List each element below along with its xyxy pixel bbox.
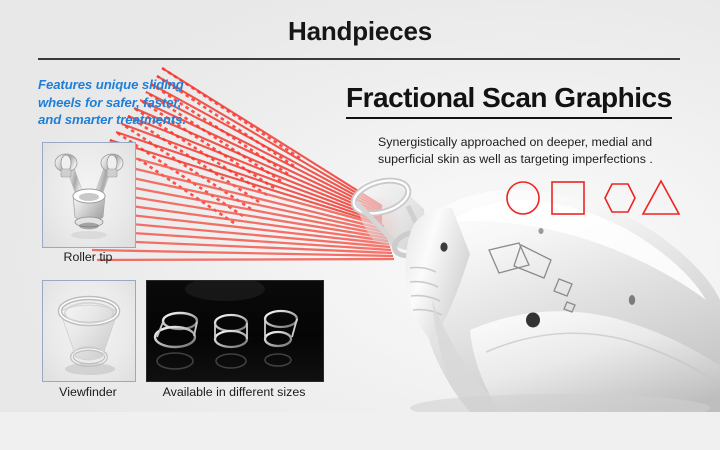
triangle-shape-icon (643, 181, 679, 214)
viewfinder-image (42, 280, 136, 382)
circle-shape-icon (507, 182, 539, 214)
roller-tip-caption: Roller tip (42, 250, 134, 264)
feature-note-line-2: wheels for safer, faster, (38, 94, 216, 112)
page-title: Handpieces (0, 16, 720, 47)
control-button (526, 313, 540, 328)
title-divider (38, 58, 680, 60)
description-line-1: Synergistically approached on deeper, me… (378, 134, 690, 151)
slide-root: Handpieces Features unique sliding wheel… (0, 0, 720, 450)
viewfinder-caption: Viewfinder (42, 385, 134, 399)
sensor-dot-right (629, 295, 635, 305)
available-sizes-caption: Available in different sizes (146, 385, 322, 399)
hexagon-shape-icon (605, 184, 635, 212)
available-sizes-image (146, 280, 324, 382)
bottom-band (0, 412, 720, 450)
fractional-scan-description: Synergistically approached on deeper, me… (378, 134, 690, 168)
square-shape-icon (552, 182, 584, 214)
scan-shape-row (505, 176, 680, 220)
feature-note-line-1: Features unique sliding (38, 76, 216, 94)
description-line-2: superficial skin as well as targeting im… (378, 151, 690, 168)
handpiece-body (406, 190, 720, 412)
sensor-dot-left (440, 242, 447, 251)
indicator-dot (538, 228, 543, 234)
fractional-scan-heading: Fractional Scan Graphics (346, 82, 672, 119)
feature-note: Features unique sliding wheels for safer… (38, 76, 216, 129)
roller-tip-image (42, 142, 136, 248)
feature-note-line-3: and smarter treatments. (38, 111, 216, 129)
